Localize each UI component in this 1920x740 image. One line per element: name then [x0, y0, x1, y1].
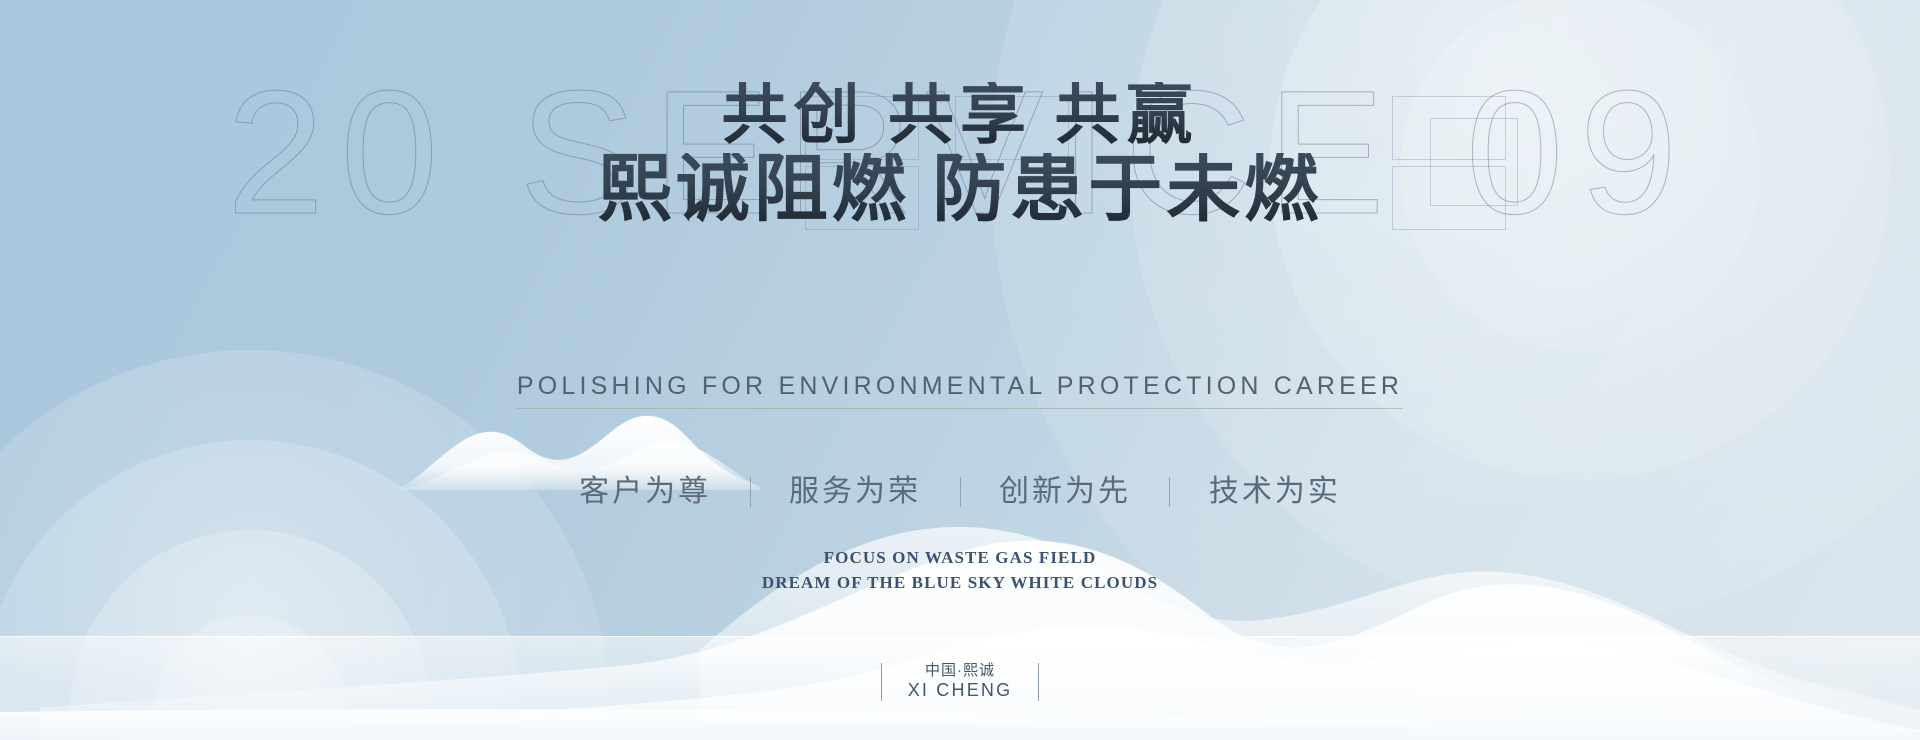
- slogan-row: 客户为尊 服务为荣 创新为先 技术为实: [0, 466, 1920, 510]
- logo-block: 中国·熙诚 XI CHENG: [0, 662, 1920, 702]
- subtitle-block: POLISHING FOR ENVIRONMENTAL PROTECTION C…: [0, 372, 1920, 409]
- tagline-line-1: FOCUS ON WASTE GAS FIELD: [0, 546, 1920, 571]
- slogan-item-3: 创新为先: [999, 475, 1131, 508]
- logo-cn: 中国·熙诚: [908, 662, 1013, 680]
- logo-text: 中国·熙诚 XI CHENG: [908, 662, 1013, 702]
- slogan-item-4: 技术为实: [1209, 475, 1341, 508]
- slogan-item-1: 客户为尊: [579, 475, 711, 508]
- tagline-line-2: DREAM OF THE BLUE SKY WHITE CLOUDS: [0, 571, 1920, 596]
- tagline-block: FOCUS ON WASTE GAS FIELD DREAM OF THE BL…: [0, 546, 1920, 595]
- logo-bar-right: [1038, 663, 1039, 701]
- headline-line-1: 共创 共享 共赢: [0, 82, 1920, 149]
- subtitle-text: POLISHING FOR ENVIRONMENTAL PROTECTION C…: [517, 372, 1403, 409]
- slogan-item-2: 服务为荣: [789, 475, 921, 508]
- headline-line-2: 熙诚阻燃 防患于未燃: [0, 153, 1920, 228]
- slogan-separator-1: [750, 477, 751, 507]
- logo-bar-left: [881, 663, 882, 701]
- slogan-separator-2: [960, 477, 961, 507]
- headline-block: 共创 共享 共赢 熙诚阻燃 防患于未燃: [0, 82, 1920, 229]
- logo-en: XI CHENG: [908, 680, 1013, 702]
- banner-root: 20 SERVICE 09 共创 共享 共赢 熙诚阻燃 防患于未燃 POLISH…: [0, 0, 1920, 740]
- horizon-line: [0, 636, 1920, 637]
- slogan-separator-3: [1169, 477, 1170, 507]
